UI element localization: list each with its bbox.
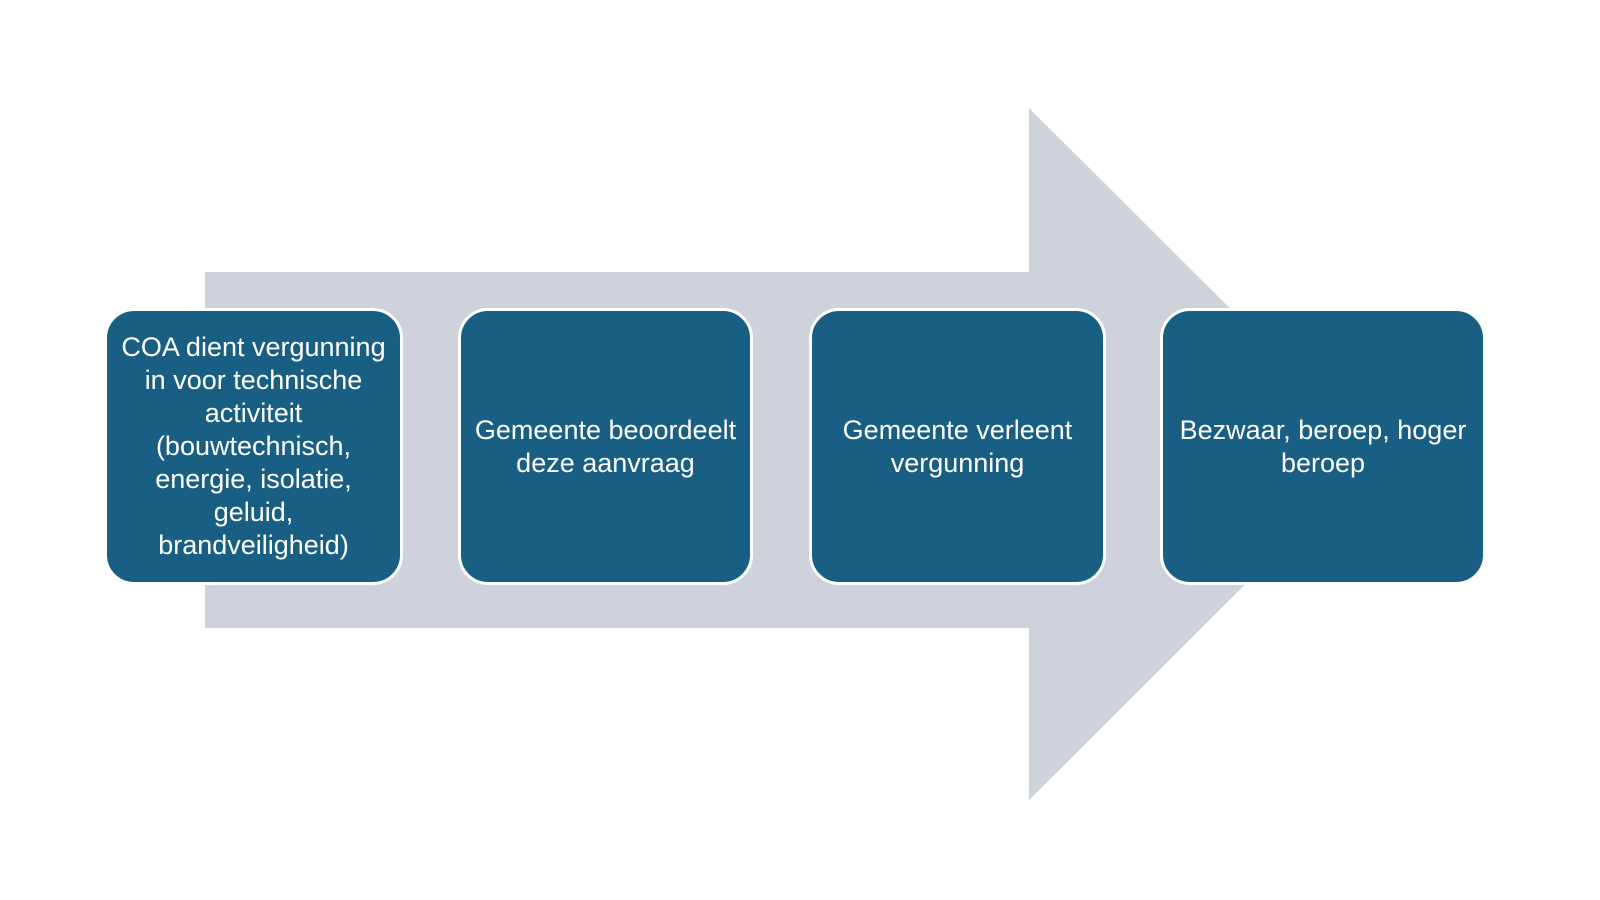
process-step-3[interactable]: Gemeente verleent vergunning [809, 308, 1106, 585]
process-step-4-label: Bezwaar, beroep, hoger beroep [1175, 414, 1471, 480]
process-step-3-label: Gemeente verleent vergunning [824, 414, 1091, 480]
process-step-1[interactable]: COA dient vergunning in voor technische … [104, 308, 403, 585]
process-step-2[interactable]: Gemeente beoordeelt deze aanvraag [458, 308, 753, 585]
process-diagram: COA dient vergunning in voor technische … [0, 0, 1600, 900]
process-step-2-label: Gemeente beoordeelt deze aanvraag [473, 414, 738, 480]
process-step-1-label: COA dient vergunning in voor technische … [119, 331, 388, 562]
process-step-4[interactable]: Bezwaar, beroep, hoger beroep [1160, 308, 1486, 585]
